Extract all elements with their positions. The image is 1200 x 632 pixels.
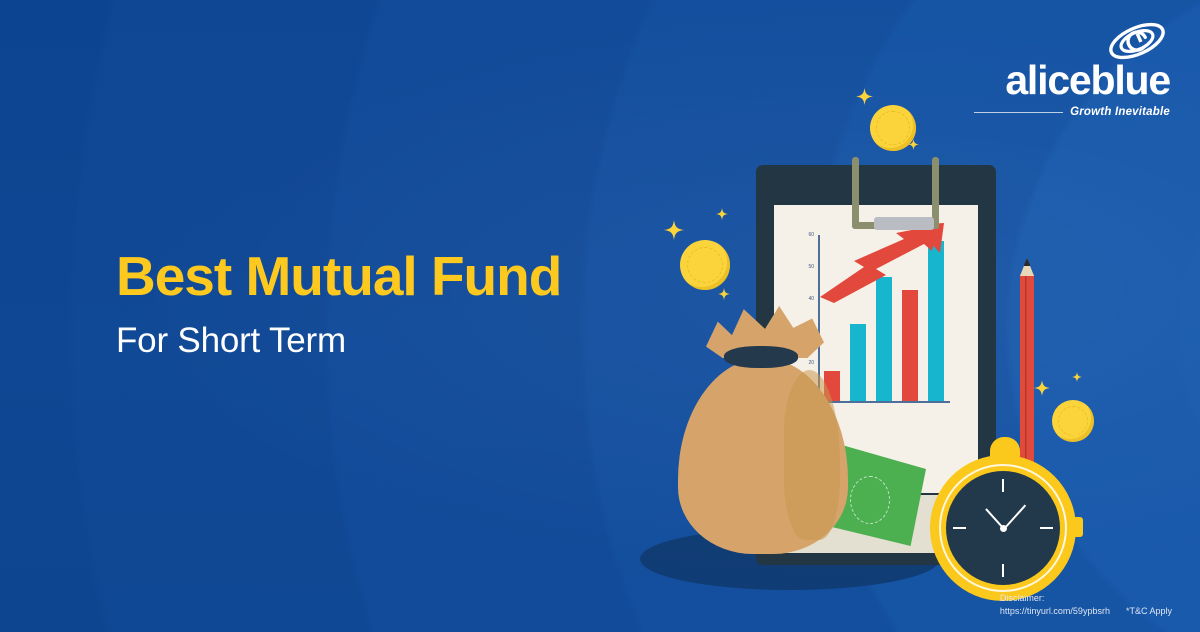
watch-center-pin [1000, 525, 1007, 532]
page-subtitle: For Short Term [116, 322, 561, 361]
pocket-watch [930, 455, 1076, 601]
watch-tick-9 [953, 527, 966, 529]
sparkle-icon [1034, 380, 1050, 396]
y-tick-label: 50 [790, 265, 814, 270]
sparkle-icon [664, 220, 684, 240]
coin-inner-ring [687, 247, 723, 283]
clipboard-clamp [874, 217, 934, 230]
sparkle-icon [718, 288, 730, 300]
terms-conditions-note: *T&C Apply [1126, 605, 1172, 618]
page-title: Best Mutual Fund [116, 248, 561, 306]
growth-arrow-icon [818, 223, 950, 303]
disclaimer-text: Disclaimer: https://tinyurl.com/59ypbsrh [1000, 592, 1110, 618]
disclaimer-url[interactable]: https://tinyurl.com/59ypbsrh [1000, 605, 1110, 618]
headline-block: Best Mutual Fund For Short Term [116, 248, 561, 360]
sparkle-icon [908, 138, 919, 149]
clipboard-clip-left [852, 157, 859, 229]
watch-tick-12 [1002, 479, 1004, 492]
pencil-graphite-tip [1024, 258, 1031, 266]
y-tick-label: 60 [790, 233, 814, 238]
sparkle-icon [856, 88, 873, 105]
sparkle-icon [1072, 370, 1082, 380]
watch-tick-3 [1040, 527, 1053, 529]
promo-banner: aliceblue Growth Inevitable Best Mutual … [0, 0, 1200, 632]
sparkle-icon [716, 208, 728, 220]
coin-inner-ring [876, 111, 909, 144]
disclaimer: Disclaimer: https://tinyurl.com/59ypbsrh… [1000, 592, 1172, 618]
money-sack-tie [724, 346, 798, 368]
money-sack-shading [784, 370, 840, 540]
illustration: 60 50 40 30 20 10 [620, 60, 1200, 620]
sparkle-icon [1072, 428, 1082, 438]
money-sack [668, 300, 858, 560]
watch-tick-6 [1002, 564, 1004, 577]
coin-icon [680, 240, 730, 290]
chart-bar [902, 290, 918, 401]
disclaimer-label: Disclaimer: [1000, 592, 1110, 605]
